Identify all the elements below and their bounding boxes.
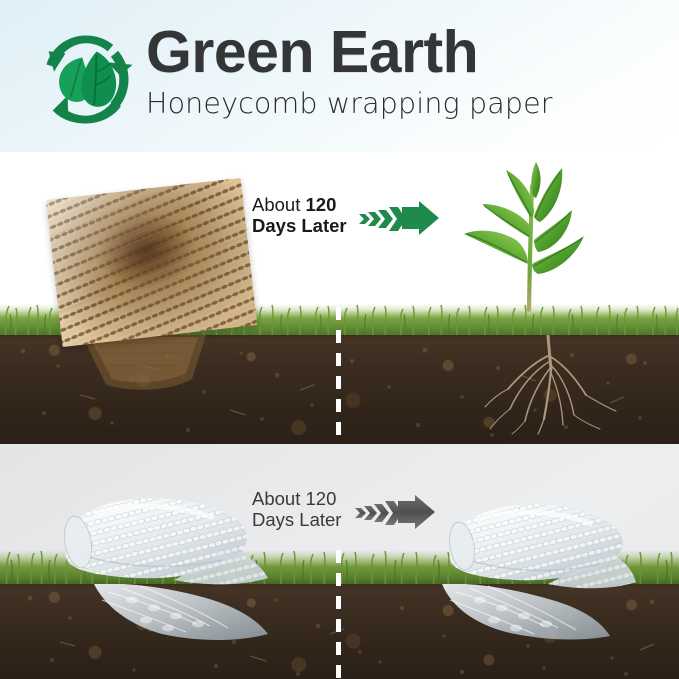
upper-scene: About 120 Days Later [0,152,679,444]
header-banner: Green Earth Honeycomb wrapping paper [0,0,679,152]
upper-caption-days-value: 120 [306,194,337,215]
lower-caption-days-value: 120 [306,488,337,509]
leaf-lower-left [464,231,528,264]
leaf-top [531,162,540,198]
green-right-arrow-icon [359,201,439,235]
upper-caption-text: About 120 Days Later [252,194,347,237]
lower-caption-line1: About 120 [252,488,341,509]
plastic-bubble-wrap-roll-left [56,486,271,598]
upper-caption-line1: About 120 [252,194,347,215]
leaf-front [81,52,116,107]
lower-caption-about-120-days-later: About 120 Days Later [252,488,435,531]
honeycomb-kraft-paper-sheet [46,178,257,347]
upper-scene-divider [336,307,341,444]
upper-caption-line2: Days Later [252,215,347,236]
decomposing-paper-remnant [74,335,224,397]
recycle-leaves-logo-icon [34,27,138,131]
gray-right-arrow-icon [355,495,435,529]
brand-subtitle: Honeycomb wrapping paper [146,88,666,121]
honeycomb-pattern [46,178,257,347]
lower-caption-prefix: About [252,488,306,509]
upper-caption-about-120-days-later: About 120 Days Later [252,194,439,237]
green-seedling-plant [450,160,630,340]
upper-caption-prefix: About [252,194,306,215]
product-infographic-poster: Green Earth Honeycomb wrapping paper [0,0,679,679]
lower-caption-line2: Days Later [252,509,341,530]
lower-scene: About 120 Days Later [0,444,679,679]
plant-root-system [470,335,660,435]
brand-text-block: Green Earth Honeycomb wrapping paper [146,22,666,121]
lower-caption-text: About 120 Days Later [252,488,341,531]
plastic-bubble-wrap-roll-right [436,494,636,599]
brand-title: Green Earth [146,22,666,82]
lower-scene-divider [336,550,341,679]
recycle-leaves-logo [34,27,138,131]
